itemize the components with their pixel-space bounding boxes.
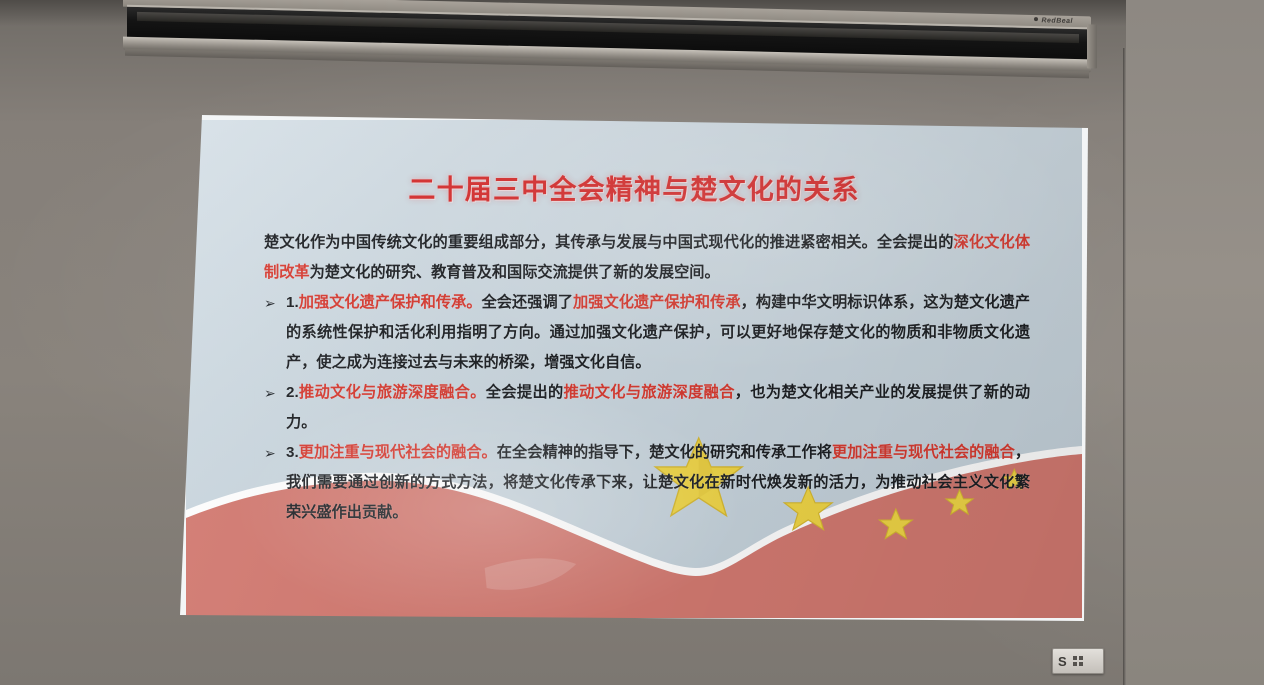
body-text-run: 在全会精神的指导下，楚文化的研究和传承工作将	[497, 444, 832, 461]
slide-bullet-item: ➢2.推动文化与旅游深度融合。全会提出的推动文化与旅游深度融合，也为楚文化相关产…	[264, 378, 1030, 438]
brand-logo: RedBeal	[1034, 17, 1073, 25]
projected-slide: 二十届三中全会精神与楚文化的关系 楚文化作为中国传统文化的重要组成部分，其传承与…	[180, 114, 1088, 624]
bullet-number: 2.	[286, 384, 299, 401]
bullet-number: 3.	[286, 444, 299, 461]
bullet-arrow-icon: ➢	[264, 288, 276, 318]
slide-intro-paragraph: 楚文化作为中国传统文化的重要组成部分，其传承与发展与中国式现代化的推进紧密相关。…	[264, 228, 1030, 288]
bullet-arrow-icon: ➢	[264, 378, 276, 408]
wall-plate-glyph: S	[1058, 655, 1067, 668]
bullet-number: 1.	[286, 294, 299, 311]
slide-canvas: 二十届三中全会精神与楚文化的关系 楚文化作为中国传统文化的重要组成部分，其传承与…	[186, 120, 1082, 618]
slide-bullet-item: ➢1.加强文化遗产保护和传承。全会还强调了加强文化遗产保护和传承，构建中华文明标…	[264, 288, 1030, 378]
highlighted-phrase: 加强文化遗产保护和传承。	[299, 294, 482, 311]
slide-bullet-item: ➢3.更加注重与现代社会的融合。在全会精神的指导下，楚文化的研究和传承工作将更加…	[264, 438, 1030, 528]
housing-end-cap	[1087, 24, 1097, 68]
wall-plate[interactable]: S	[1052, 648, 1104, 674]
body-text-run: 楚文化作为中国传统文化的重要组成部分，其传承与发展与中国式现代化的推进紧密相关。…	[264, 234, 954, 251]
wall-seam	[1123, 48, 1126, 685]
bullet-arrow-icon: ➢	[264, 438, 276, 468]
highlighted-phrase: 更加注重与现代社会的融合	[832, 444, 1015, 461]
slide-title: 二十届三中全会精神与楚文化的关系	[186, 168, 1082, 207]
wall-plate-sockets	[1073, 656, 1083, 666]
wall-right-panel	[1126, 0, 1264, 685]
body-text-run: 全会还强调了	[482, 294, 573, 311]
body-text-run: 全会提出的	[486, 384, 564, 401]
highlighted-phrase: 更加注重与现代社会的融合。	[299, 444, 497, 461]
highlighted-phrase: 推动文化与旅游深度融合	[564, 384, 735, 401]
highlighted-phrase: 加强文化遗产保护和传承	[573, 294, 741, 311]
slide-body-text: 楚文化作为中国传统文化的重要组成部分，其传承与发展与中国式现代化的推进紧密相关。…	[264, 228, 1030, 528]
body-text-run: 为楚文化的研究、教育普及和国际交流提供了新的发展空间。	[310, 264, 720, 281]
slide-white-border: 二十届三中全会精神与楚文化的关系 楚文化作为中国传统文化的重要组成部分，其传承与…	[180, 114, 1088, 624]
highlighted-phrase: 推动文化与旅游深度融合。	[299, 384, 486, 401]
